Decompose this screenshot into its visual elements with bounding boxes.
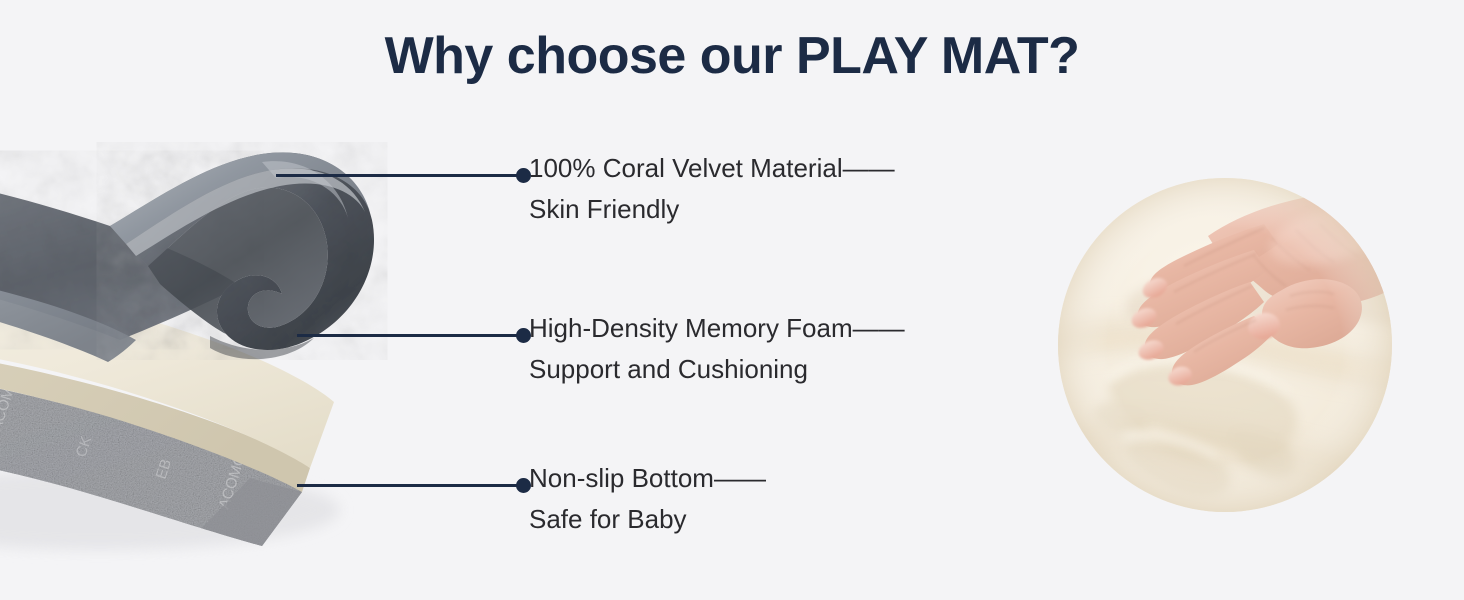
layered-play-mat-photo: ACOMOPA CK EB ACOMOPAC CK [0, 40, 470, 600]
play-mat-infographic: ACOMOPA CK EB ACOMOPAC CK [0, 0, 1464, 600]
feature-text-coral-velvet: 100% Coral Velvet Material—— Skin Friend… [529, 148, 895, 230]
feature-line-1: High-Density Memory Foam—— [529, 313, 905, 343]
feature-line-1: Non-slip Bottom—— [529, 463, 766, 493]
page-title: Why choose our PLAY MAT? [0, 26, 1464, 86]
callout-leader-line [297, 334, 518, 337]
callout-leader-line [276, 174, 518, 177]
feature-line-2: Support and Cushioning [529, 349, 905, 390]
feature-text-non-slip-bottom: Non-slip Bottom—— Safe for Baby [529, 458, 766, 540]
feature-line-2: Skin Friendly [529, 189, 895, 230]
feature-line-2: Safe for Baby [529, 499, 766, 540]
hand-pressing-memory-foam-photo [1058, 178, 1392, 512]
callout-leader-line [297, 484, 518, 487]
feature-line-1: 100% Coral Velvet Material—— [529, 153, 895, 183]
feature-text-memory-foam: High-Density Memory Foam—— Support and C… [529, 308, 905, 390]
